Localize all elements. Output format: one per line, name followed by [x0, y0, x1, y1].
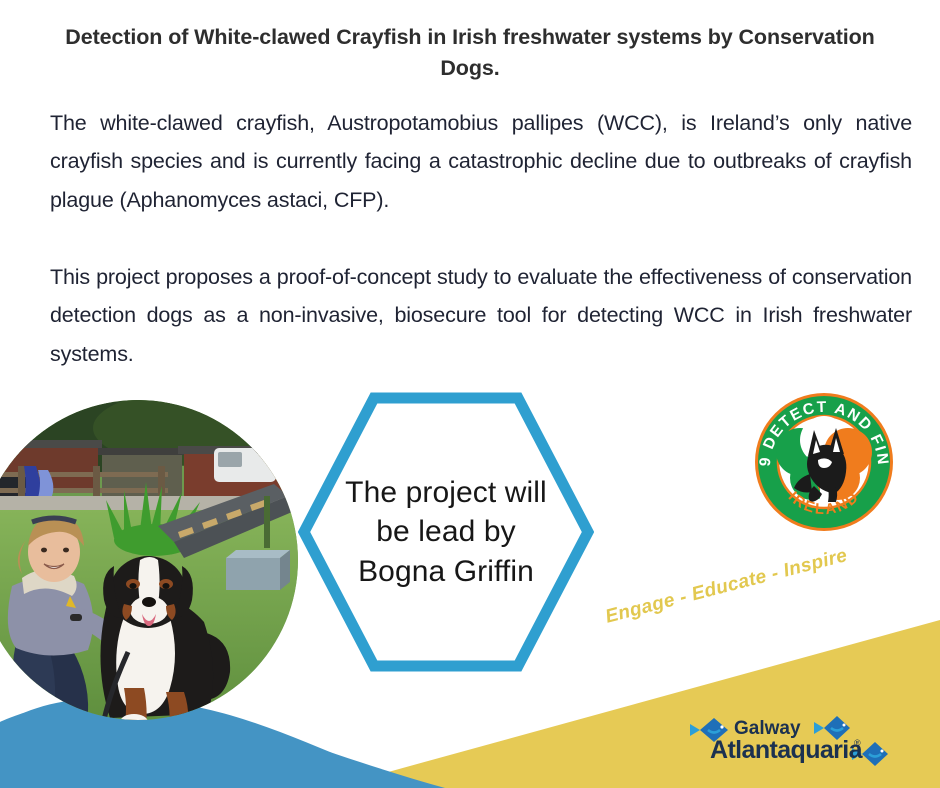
intro-paragraph: The white-clawed crayfish, Austropotamob…	[50, 104, 912, 219]
tagline: Engage - Educate - Inspire	[603, 545, 850, 629]
page-title: Detection of White-clawed Crayfish in Ir…	[60, 22, 880, 83]
brand-line-2: Atlantaquaria	[710, 736, 864, 764]
k9-detect-and-find-logo: K9 DETECT AND FIND IRELAND	[752, 390, 896, 534]
team-photo	[0, 400, 298, 720]
proposal-paragraph: This project proposes a proof-of-concept…	[50, 258, 912, 373]
blue-wave-shape-2	[0, 698, 445, 788]
galway-atlantaquaria-logo: Galway Atlantaquaria ®	[686, 714, 898, 770]
poster-slide: Detection of White-clawed Crayfish in Ir…	[0, 0, 940, 788]
registered-mark: ®	[854, 738, 861, 748]
callout-text: The project will be lead by Bogna Griffi…	[332, 418, 560, 646]
project-lead-callout: The project will be lead by Bogna Griffi…	[298, 392, 594, 672]
photo-illustration	[0, 400, 298, 720]
blue-wave-shape	[0, 699, 430, 788]
